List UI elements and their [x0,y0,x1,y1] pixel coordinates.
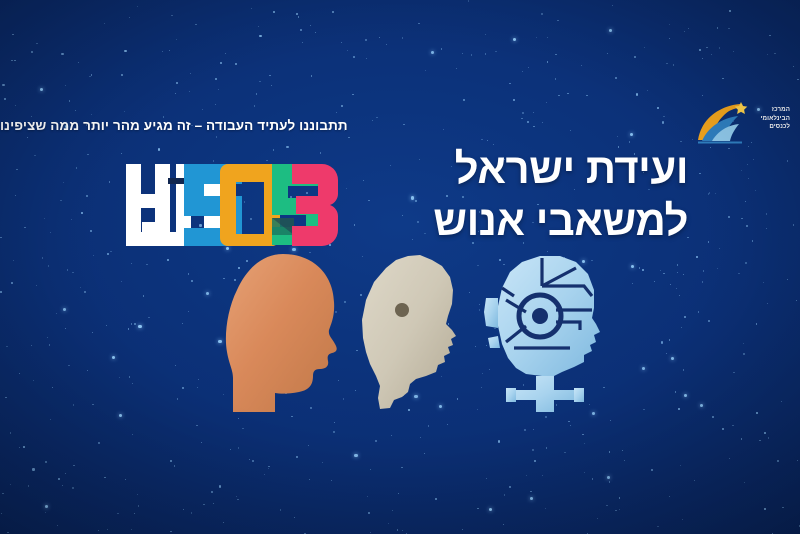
star-dot [201,442,202,443]
star-dot [175,365,176,366]
venue-logo-line1: המרכז [761,106,790,115]
star-dot [259,35,261,37]
star-dot [682,519,683,520]
star-dot [353,56,355,58]
star-dot [609,481,610,482]
star-dot [190,73,191,74]
star-dot [462,53,463,54]
star-dot [6,346,7,347]
star-dot [684,316,686,318]
star-dot [67,269,68,270]
star-dot [388,523,389,524]
star-dot [764,432,766,434]
star-dot [176,82,178,84]
star-dot [677,264,678,265]
star-dot [673,64,674,65]
star-dot [513,99,515,101]
star-dot [271,85,272,86]
star-dot [669,339,670,340]
star-dot [567,93,568,94]
star-dot [280,509,281,510]
star-dot [47,337,48,338]
star-dot [109,181,110,182]
star-dot [189,91,190,92]
star-dot [56,313,57,314]
star-dot [167,259,169,261]
star-dot [218,89,219,90]
star-dot [19,373,20,374]
human-head [225,252,355,419]
star-dot [733,372,734,373]
star-dot [692,139,693,140]
star-dot [379,37,380,38]
star-dot [675,391,676,392]
star-dot [44,218,45,219]
star-dot [63,308,66,311]
star-dot [71,219,72,220]
star-dot [607,476,610,479]
star-dot [354,224,355,225]
page-title-line1: ועידת ישראל [358,143,688,195]
star-dot [182,323,183,324]
star-dot [92,332,93,333]
star-dot [782,507,783,508]
star-dot [256,93,257,94]
star-dot [513,38,516,41]
star-dot [237,499,238,500]
star-dot [777,460,778,461]
star-dot [738,273,739,274]
star-dot [125,479,126,480]
star-dot [202,109,203,110]
star-dot [545,508,546,509]
star-dot [688,28,689,29]
star-dot [31,51,33,53]
star-dot [215,78,217,80]
star-dot [370,532,371,533]
star-dot [696,256,698,258]
star-dot [331,480,332,481]
star-dot [774,53,775,54]
star-dot [555,78,556,79]
star-dot [733,51,734,52]
star-dot [744,482,745,483]
star-dot [503,524,504,525]
star-dot [745,201,746,202]
star-dot [741,170,742,171]
star-dot [76,167,77,168]
star-dot [615,77,617,79]
star-dot [746,225,748,227]
star-dot [0,237,1,238]
star-dot [402,530,403,531]
star-dot [536,37,537,38]
page-title: ועידת ישראל למשאבי אנוש [358,143,688,247]
star-dot [463,99,464,100]
star-dot [651,469,652,470]
star-dot [191,280,193,282]
star-dot [530,491,531,492]
star-dot [254,105,255,106]
star-dot [132,434,133,435]
star-dot [14,60,15,61]
star-dot [10,432,11,433]
star-dot [236,496,237,497]
star-dot [143,295,144,296]
star-dot [65,328,66,329]
hr-2023-logo [124,158,338,252]
star-dot [547,61,548,62]
venue-logo: המרכז הבינלאומי לכנסים [696,100,792,146]
star-dot [368,512,370,514]
star-dot [657,107,659,109]
star-dot [315,32,316,33]
star-dot [273,149,274,150]
star-dot [215,104,216,105]
star-dot [196,425,197,426]
star-dot [131,323,132,324]
star-dot [182,387,183,388]
star-dot [703,270,704,271]
star-dot [729,458,730,459]
star-dot [211,491,213,493]
star-dot [787,279,788,280]
star-dot [188,311,189,312]
star-dot [666,63,667,64]
star-dot [610,420,611,421]
star-dot [61,53,63,55]
star-dot [50,419,51,420]
star-dot [533,429,534,430]
robot-head [480,252,625,419]
star-dot [683,369,684,370]
star-dot [58,478,60,480]
star-dot [679,295,680,296]
star-dot [119,377,120,378]
star-dot [45,461,46,462]
star-dot [220,62,222,64]
star-dot [745,262,746,263]
star-dot [471,54,472,55]
star-dot [269,75,270,76]
star-dot [121,281,122,282]
star-dot [132,383,133,384]
star-dot [40,88,43,91]
star-dot [206,292,209,295]
star-dot [177,398,178,399]
star-dot [341,105,343,107]
star-dot [0,291,2,293]
star-dot [391,435,392,436]
robot-neck-stand [514,376,576,412]
star-dot [12,34,13,35]
star-dot [715,193,716,194]
star-dot [743,343,744,344]
star-icon [735,102,748,114]
star-dot [134,513,135,514]
star-dot [677,272,678,273]
star-dot [175,93,176,94]
star-dot [57,525,58,526]
star-dot [332,11,334,13]
venue-logo-text: המרכז הבינלאומי לכנסים [761,106,790,132]
star-dot [230,449,231,450]
star-dot [678,408,680,410]
star-dot [87,370,88,371]
star-dot [308,445,309,446]
star-dot [570,425,571,426]
star-dot [418,23,419,24]
event-subtitle: תתבוננו לעתיד העבודה – זה מגיע מהר יותר … [0,118,348,133]
star-dot [73,465,74,466]
star-dot [666,353,667,354]
star-dot [4,98,6,100]
star-dot [498,440,500,442]
star-dot [195,24,196,25]
star-dot [23,446,25,448]
star-dot [700,404,703,407]
star-dot [401,467,402,468]
star-dot [509,486,510,487]
star-dot [636,93,638,95]
page-title-line2: למשאבי אנוש [358,195,688,247]
star-dot [402,37,403,38]
star-dot [15,105,16,106]
star-dot [756,323,757,324]
star-dot [722,78,723,79]
star-dot [52,387,53,388]
star-dot [98,442,99,443]
star-dot [558,95,559,96]
star-dot [489,508,492,511]
star-dot [242,428,243,429]
star-dot [128,328,129,329]
star-dot [420,437,421,438]
star-dot [481,139,482,140]
star-dot [148,317,149,318]
star-dot [564,452,565,453]
star-dot [619,509,620,510]
star-dot [19,447,20,448]
star-dot [530,497,533,500]
star-dot [732,425,733,426]
star-dot [547,37,548,38]
star-dot [33,380,34,381]
star-dot [171,15,172,16]
star-dot [174,465,175,466]
star-dot [62,485,63,486]
star-dot [48,265,49,266]
star-dot [264,474,265,475]
star-dot [669,496,670,497]
star-dot [386,44,387,45]
star-dot [235,63,237,65]
star-dot [50,232,51,233]
star-dot [584,472,585,473]
star-dot [129,376,130,377]
star-dot [477,508,478,509]
star-dot [218,340,221,343]
star-dot [660,270,661,271]
star-dot [11,282,13,284]
star-dot [117,513,118,514]
star-dot [124,50,126,52]
star-dot [541,13,542,14]
star-dot [311,75,312,76]
star-dot [609,29,612,32]
star-dot [249,459,250,460]
star-dot [654,281,655,282]
star-dot [341,42,342,43]
star-dot [793,224,794,225]
star-dot [296,13,298,15]
star-dot [769,35,770,36]
star-dot [296,456,297,457]
star-dot [796,300,797,301]
star-dot [80,287,81,288]
star-dot [15,195,16,196]
star-dot [92,404,93,405]
star-dot [612,5,613,6]
star-dot [219,485,221,487]
star-dot [441,48,442,49]
star-dot [36,285,37,286]
star-dot [191,512,192,513]
star-dot [766,228,767,229]
star-dot [698,311,699,312]
star-dot [72,272,73,273]
star-dot [684,31,685,32]
star-dot [131,263,132,264]
star-dot [309,479,310,480]
star-dot [676,288,677,289]
star-dot [119,414,122,417]
star-dot [162,51,163,52]
star-dot [748,178,749,179]
star-dot [300,29,302,31]
star-dot [197,387,198,388]
star-dot [639,267,640,268]
digit-3-pink [292,164,338,246]
star-dot [134,323,135,324]
star-dot [728,148,729,149]
star-dot [131,529,132,530]
star-dot [252,460,254,462]
star-dot [699,173,700,174]
star-dot [706,47,707,48]
star-dot [112,356,115,359]
star-dot [169,50,170,51]
star-dot [728,216,729,217]
star-dot [7,532,8,533]
star-dot [680,465,681,466]
star-dot [743,353,744,354]
poster-canvas: תתבוננו לעתיד העבודה – זה מגיע מהר יותר … [0,0,800,534]
star-dot [251,8,252,9]
star-dot [768,437,769,438]
star-dot [170,460,172,462]
star-dot [763,282,764,283]
star-dot [787,160,788,161]
star-dot [669,24,670,25]
star-dot [684,394,687,397]
star-dot [597,518,598,519]
star-dot [663,273,664,274]
star-dot [334,422,335,423]
star-dot [781,401,782,402]
star-dot [568,421,569,422]
star-dot [110,251,111,252]
star-dot [65,85,66,86]
star-dot [45,505,48,508]
subtitle-row: תתבוננו לעתיד העבודה – זה מגיע מהר יותר … [0,112,800,138]
stone-head-eye [395,303,409,317]
star-dot [671,357,674,360]
star-dot [431,51,434,54]
star-dot [104,23,105,24]
robot-ear-sensor-core [532,308,548,324]
star-dot [487,140,488,141]
star-dot [767,54,768,55]
star-dot [310,25,311,26]
star-dot [462,529,463,530]
star-dot [606,505,607,506]
star-dot [106,325,107,326]
star-dot [435,498,437,500]
star-dot [624,460,625,461]
star-dot [615,510,616,511]
star-dot [183,509,184,510]
star-dot [121,153,122,154]
star-dot [28,485,29,486]
star-dot [709,192,710,193]
star-dot [719,47,720,48]
star-dot [225,53,226,54]
star-dot [717,27,718,28]
star-dot [104,477,105,478]
star-dot [11,60,12,61]
star-dot [86,195,87,196]
star-dot [528,67,529,68]
star-dot [68,365,69,366]
star-dot [268,466,269,467]
star-dot [526,475,527,476]
star-dot [717,268,718,269]
star-dot [532,449,533,450]
star-dot [728,28,729,29]
star-dot [16,169,17,170]
star-dot [81,212,83,214]
star-dot [661,341,663,343]
star-dot [764,508,766,510]
star-dot [36,43,37,44]
star-dot [367,496,368,497]
star-dot [60,200,61,201]
star-dot [188,273,189,274]
star-dot [425,70,426,71]
star-dot [49,344,50,345]
star-dot [87,154,88,155]
star-dot [753,159,754,160]
star-dot [352,94,353,95]
heads-illustration [225,252,625,414]
star-dot [298,16,299,17]
star-dot [5,397,6,398]
star-dot [741,218,742,219]
star-dot [78,62,79,63]
star-dot [333,431,334,432]
star-dot [223,522,224,523]
